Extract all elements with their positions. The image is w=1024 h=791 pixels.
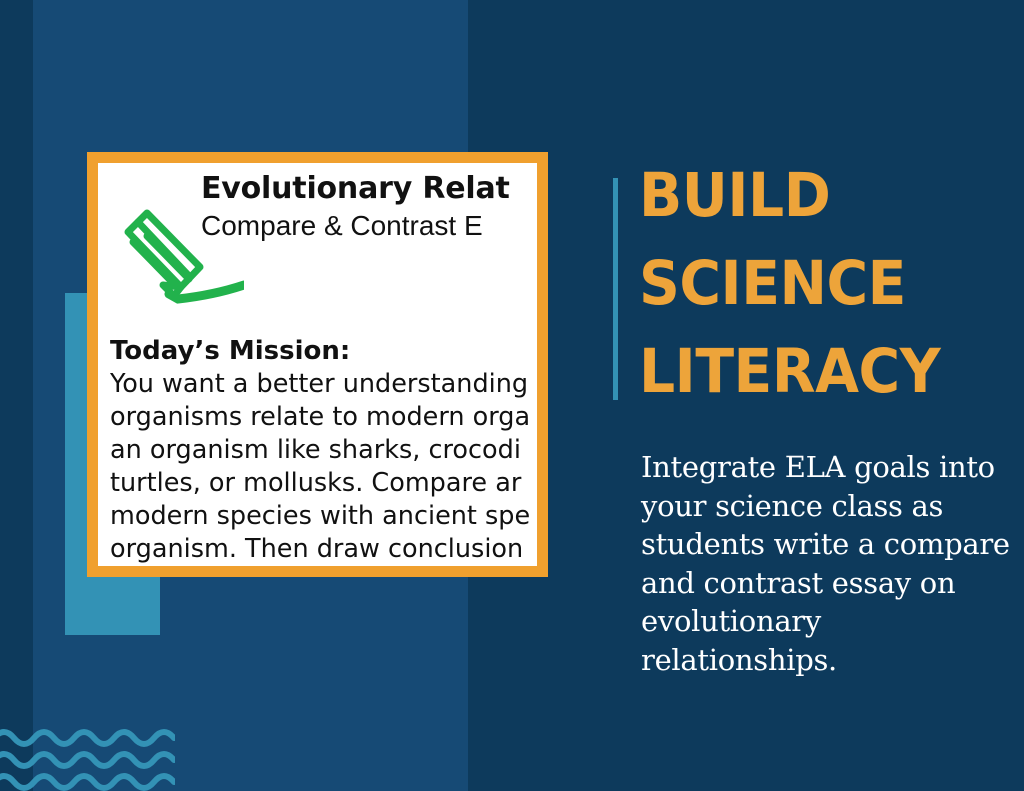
worksheet-image-card[interactable]: Evolutionary Relat Compare & Contrast E … bbox=[87, 152, 548, 577]
page-title: BUILD SCIENCE LITERACY bbox=[639, 152, 1009, 416]
worksheet-mission-label: Today’s Mission: bbox=[110, 335, 537, 368]
page-title-line: BUILD bbox=[639, 152, 983, 240]
worksheet-mission-line: You want a better understanding bbox=[110, 368, 537, 401]
background-left-dark-strip bbox=[0, 0, 33, 791]
worksheet-mission-line: organisms relate to modern orga bbox=[110, 401, 537, 434]
worksheet-page: Evolutionary Relat Compare & Contrast E … bbox=[98, 163, 537, 566]
worksheet-heading-block: Evolutionary Relat Compare & Contrast E bbox=[201, 170, 537, 244]
slide-canvas: Evolutionary Relat Compare & Contrast E … bbox=[0, 0, 1024, 791]
worksheet-mission-block: Today’s Mission: You want a better under… bbox=[110, 335, 537, 566]
page-subcopy: Integrate ELA goals into your science cl… bbox=[641, 448, 1013, 679]
worksheet-mission-line: turtles, or mollusks. Compare ar bbox=[110, 467, 537, 500]
worksheet-title: Evolutionary Relat bbox=[201, 170, 537, 208]
worksheet-mission-line: modern species with ancient spe bbox=[110, 500, 537, 533]
worksheet-subtitle: Compare & Contrast E bbox=[201, 208, 537, 244]
headline-accent-bar bbox=[613, 178, 618, 400]
page-title-line: LITERACY bbox=[639, 328, 983, 416]
worksheet-mission-line: organism. Then draw conclusion bbox=[110, 533, 537, 566]
page-title-line: SCIENCE bbox=[639, 240, 983, 328]
worksheet-mission-line: an organism like sharks, crocodi bbox=[110, 434, 537, 467]
wavy-lines-decoration bbox=[0, 726, 175, 791]
